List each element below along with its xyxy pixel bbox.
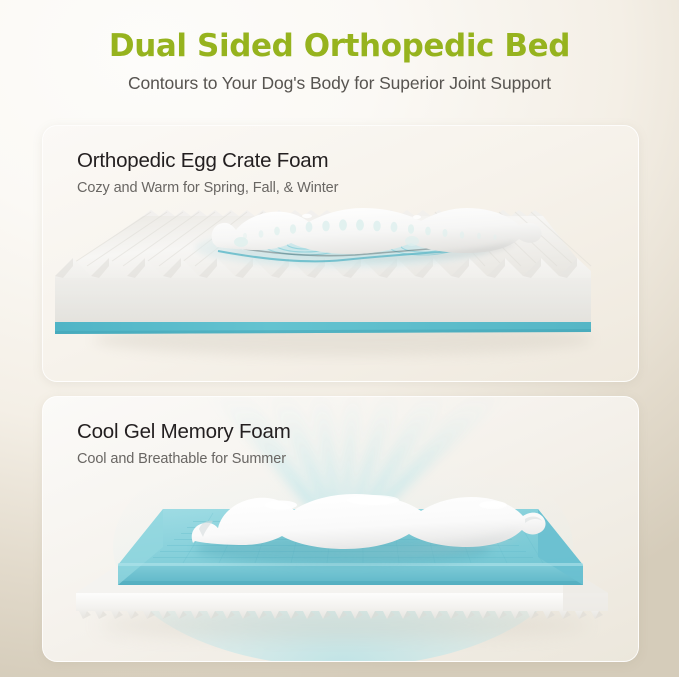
product-feature-page: Dual Sided Orthopedic Bed Contours to Yo… (0, 0, 679, 677)
card-2-heading: Cool Gel Memory Foam (77, 419, 291, 445)
page-title: Dual Sided Orthopedic Bed (0, 26, 679, 66)
feature-card-cool-gel-memory-foam: Cool Gel Memory Foam Cool and Breathable… (42, 396, 639, 662)
card-1-text-block: Orthopedic Egg Crate Foam Cozy and Warm … (77, 148, 338, 199)
feature-card-orthopedic-egg-crate-foam: Orthopedic Egg Crate Foam Cozy and Warm … (42, 125, 639, 382)
page-subtitle: Contours to Your Dog's Body for Superior… (0, 70, 679, 96)
header: Dual Sided Orthopedic Bed Contours to Yo… (0, 26, 679, 96)
card-1-heading: Orthopedic Egg Crate Foam (77, 148, 338, 174)
card-2-subheading: Cool and Breathable for Summer (77, 448, 291, 470)
card-1-subheading: Cozy and Warm for Spring, Fall, & Winter (77, 177, 338, 199)
card-2-text-block: Cool Gel Memory Foam Cool and Breathable… (77, 419, 291, 470)
